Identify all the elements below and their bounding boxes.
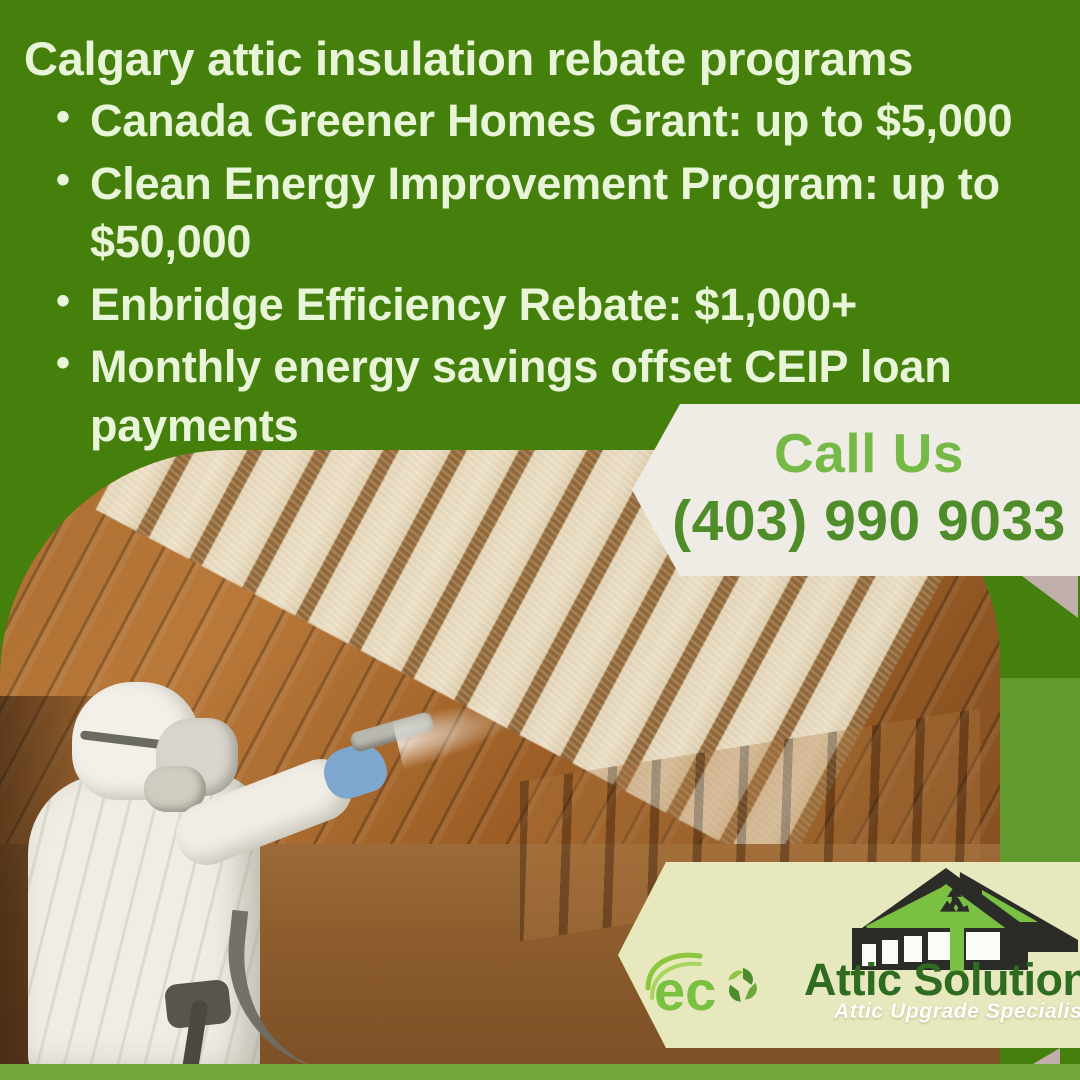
list-item: Clean Energy Improvement Program: up to … <box>90 155 1080 272</box>
logo-banner[interactable]: ec Attic Solutions Inc. Attic Upgrade Sp… <box>618 862 1080 1048</box>
svg-text:ec: ec <box>654 959 716 1020</box>
rebate-list: Canada Greener Homes Grant: up to $5,000… <box>52 92 1080 459</box>
call-us-banner[interactable]: Call Us (403) 990 9033 <box>632 404 1080 576</box>
poster: Calgary attic insulation rebate programs… <box>0 0 1080 1080</box>
call-us-label: Call Us <box>774 425 964 483</box>
page-title: Calgary attic insulation rebate programs <box>24 34 1024 83</box>
brand-name: Attic Solutions Inc. <box>804 954 1080 1006</box>
phone-number[interactable]: (403) 990 9033 <box>672 489 1066 555</box>
list-item: Enbridge Efficiency Rebate: $1,000+ <box>90 276 1080 335</box>
bottom-accent-strip <box>0 1064 1080 1080</box>
worker-spraying-icon <box>28 682 358 1065</box>
eco-wordmark: ec <box>638 948 808 1020</box>
brand-tagline: Attic Upgrade Specialists <box>834 1000 1080 1024</box>
logo-lockup: ec Attic Solutions Inc. Attic Upgrade Sp… <box>618 862 1080 1048</box>
recycle-leaves-icon <box>728 968 757 1002</box>
banner-fold-top <box>1022 576 1078 618</box>
list-item: Canada Greener Homes Grant: up to $5,000 <box>90 92 1080 151</box>
